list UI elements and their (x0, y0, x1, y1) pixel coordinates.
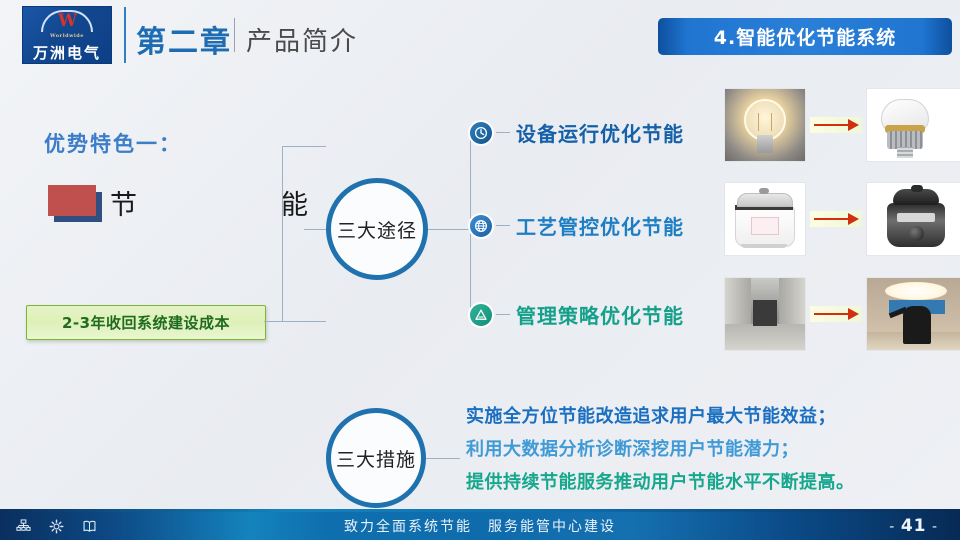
globe-icon (470, 215, 492, 237)
feature-title: 优势特色一： (44, 128, 182, 158)
right-arrow-icon (810, 306, 862, 322)
node-three-measures: 三大措施 (326, 408, 426, 508)
photo-incandescent-bulb (724, 88, 806, 162)
triangle-icon (470, 304, 492, 326)
measure-line-3: 提供持续节能服务推动用户节能水平不断提高。 (466, 466, 936, 499)
connector-measures (426, 458, 460, 459)
keyword-text: 节 能 (110, 183, 338, 222)
measure-line-2: 利用大数据分析诊断深挖用户节能潜力； (466, 433, 936, 466)
way-item-2: 工艺管控优化节能 (470, 211, 684, 240)
section-banner: 4.智能优化节能系统 (658, 18, 952, 55)
header-divider (124, 7, 126, 63)
connector-ways-main (428, 229, 470, 230)
payback-callout: 2-3年收回系统建设成本 (26, 305, 266, 340)
footer-bar: 致力全面系统节能 服务能管中心建设 - 41 - (0, 512, 960, 540)
connector-left-vertical (282, 146, 283, 322)
chapter-subtitle: 产品简介 (246, 21, 358, 58)
chapter-title: 第二章 (136, 17, 232, 61)
photo-dim-corridor (724, 277, 806, 351)
footer-slogan: 致力全面系统节能 服务能管中心建设 (0, 516, 960, 536)
page-number: - 41 - (889, 516, 938, 536)
page-number-prefix: - (889, 519, 895, 535)
right-arrow-icon (810, 211, 862, 227)
section-banner-label: 4.智能优化节能系统 (714, 23, 896, 50)
photo-pressure-cooker (866, 182, 960, 256)
company-logo: W Worldwide 万洲电气 (22, 6, 112, 64)
photo-rice-cooker (724, 182, 806, 256)
payback-callout-label: 2-3年收回系统建设成本 (62, 312, 230, 333)
logo-letter: W (39, 11, 95, 31)
right-arrow-icon (810, 117, 862, 133)
page-number-suffix: - (932, 519, 938, 535)
logo-emblem-icon: W (39, 9, 95, 34)
connector-to-ways-circle (304, 229, 326, 230)
photo-led-bulb (866, 88, 960, 162)
node-three-ways: 三大途径 (326, 178, 428, 280)
node-three-measures-label: 三大措施 (336, 445, 416, 472)
way-item-3: 管理策略优化节能 (470, 300, 684, 329)
photo-row-corridor (724, 277, 960, 351)
connector-left-bottom (282, 321, 326, 322)
way-item-2-label: 工艺管控优化节能 (516, 211, 684, 240)
keyword-square-icon (48, 185, 96, 216)
photo-row-lighting (724, 88, 960, 162)
slide-canvas: W Worldwide 万洲电气 第二章 产品简介 4.智能优化节能系统 优势特… (0, 0, 960, 540)
way-item-1-label: 设备运行优化节能 (516, 118, 684, 147)
photo-lit-corridor (866, 277, 960, 351)
chapter-separator (234, 18, 235, 52)
connector-to-payback (264, 321, 284, 322)
way-item-3-label: 管理策略优化节能 (516, 300, 684, 329)
measures-list: 实施全方位节能改造追求用户最大节能效益； 利用大数据分析诊断深挖用户节能潜力； … (466, 400, 936, 499)
node-three-ways-label: 三大途径 (337, 216, 417, 243)
logo-company-name: 万洲电气 (33, 42, 101, 63)
way-item-1-dash (496, 132, 510, 133)
page-number-value: 41 (901, 516, 927, 536)
way-item-1: 设备运行优化节能 (470, 118, 684, 147)
photo-row-cooker (724, 182, 960, 256)
connector-left-top (282, 146, 326, 147)
way-item-2-dash (496, 225, 510, 226)
way-item-3-dash (496, 314, 510, 315)
clock-icon (470, 122, 492, 144)
measure-line-1: 实施全方位节能改造追求用户最大节能效益； (466, 400, 936, 433)
